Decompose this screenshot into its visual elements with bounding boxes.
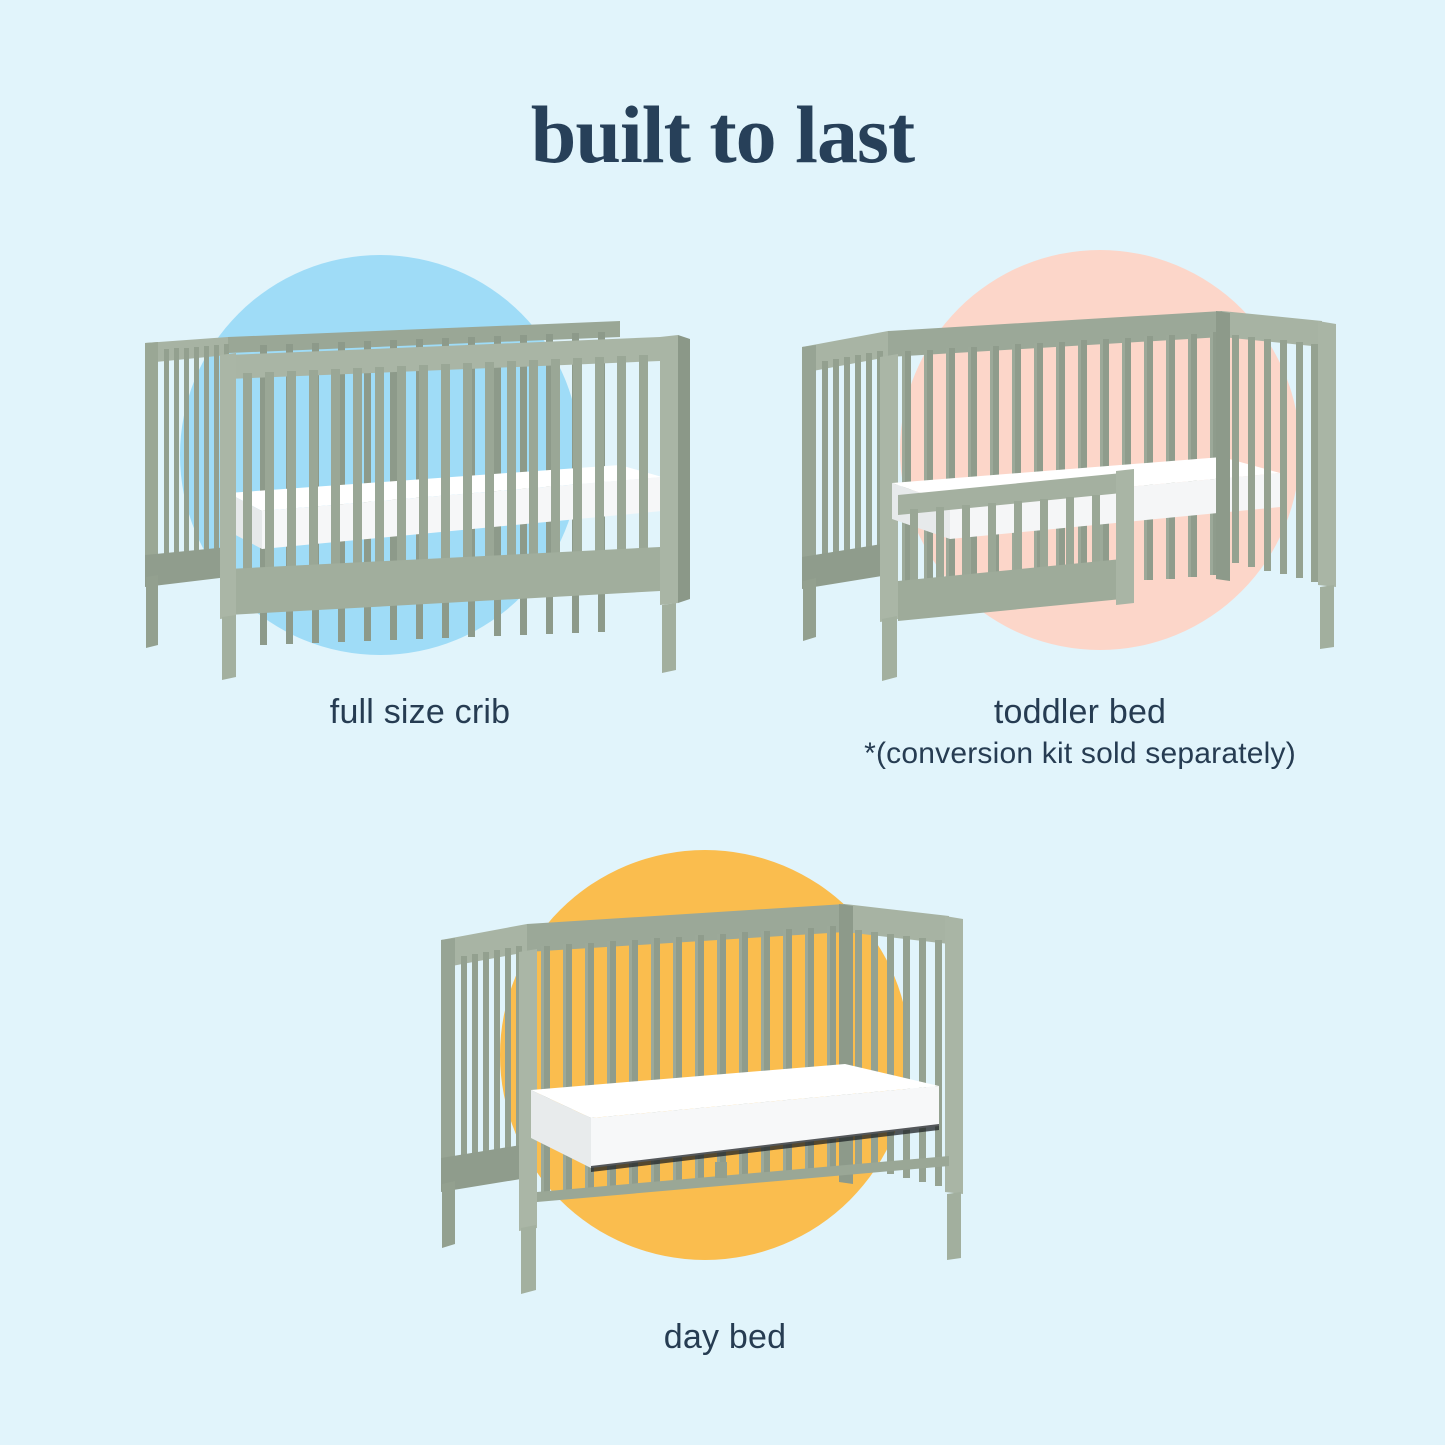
- left-rear-leg: [442, 1181, 455, 1248]
- full-size-crib-illustration: [110, 225, 730, 675]
- left-rear-post: [802, 345, 816, 581]
- config-panel-full-size-crib: full size crib: [110, 225, 730, 765]
- day-bed-illustration: [415, 840, 1035, 1290]
- right-front-leg: [947, 1192, 961, 1260]
- right-front-leg: [662, 603, 676, 673]
- caption-toddler-bed: toddler bed: [770, 693, 1390, 732]
- left-front-leg: [882, 616, 897, 681]
- right-front-post: [660, 335, 678, 605]
- right-end-panel: [660, 335, 690, 673]
- caption-full-size-crib: full size crib: [110, 693, 730, 732]
- right-rear-post: [1216, 311, 1230, 581]
- infographic-page: built to last: [0, 0, 1445, 1445]
- right-end-side: [678, 335, 690, 603]
- right-front-post: [1318, 321, 1336, 587]
- left-rear-leg: [146, 575, 158, 648]
- left-front-corner: [220, 353, 236, 680]
- caption-day-bed: day bed: [415, 1318, 1035, 1357]
- left-rear-post: [441, 938, 455, 1184]
- caption-toddler-bed-note: *(conversion kit sold separately): [770, 737, 1390, 771]
- left-end-panel: [145, 337, 229, 648]
- right-front-post: [945, 916, 963, 1194]
- right-front-leg: [1320, 585, 1334, 649]
- page-title: built to last: [0, 92, 1445, 178]
- center-support-foot: [715, 1162, 727, 1178]
- toddler-bed-illustration: [770, 225, 1390, 675]
- guard-rail-end-post: [1116, 469, 1134, 605]
- left-front-leg: [222, 615, 236, 680]
- left-front-leg: [521, 1225, 536, 1294]
- left-rear-post: [145, 342, 158, 577]
- left-end-panel: [441, 924, 537, 1294]
- left-rear-leg: [803, 578, 816, 641]
- config-panel-toddler-bed: toddler bed *(conversion kit sold separa…: [770, 225, 1390, 765]
- left-end-panel: [802, 331, 898, 681]
- left-end-slats: [822, 351, 883, 569]
- config-panel-day-bed: day bed: [415, 840, 1035, 1400]
- left-front-post: [220, 353, 236, 619]
- right-rear-post: [839, 904, 853, 1184]
